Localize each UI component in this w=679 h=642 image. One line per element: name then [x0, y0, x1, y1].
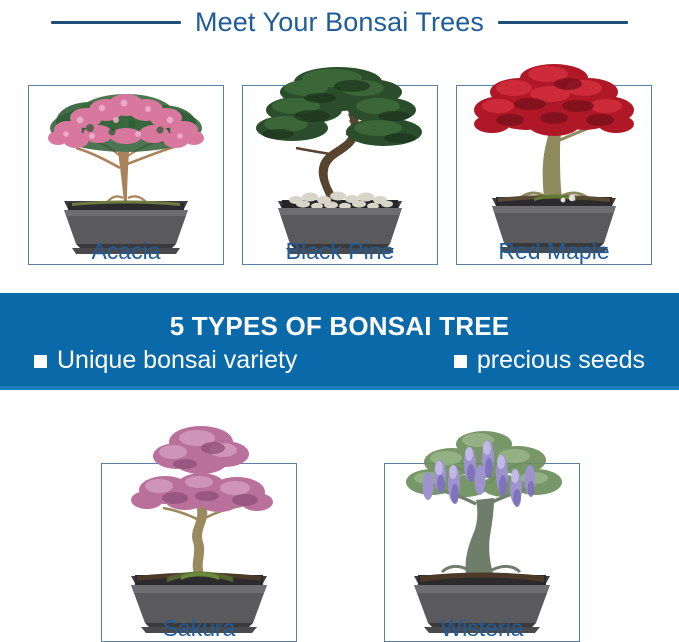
- page-header: Meet Your Bonsai Trees: [0, 0, 679, 44]
- bonsai-card-black-pine[interactable]: Black Pine: [242, 48, 438, 265]
- card-label: Sakura: [101, 617, 297, 640]
- bonsai-card-sakura[interactable]: Sakura: [101, 400, 297, 642]
- card-label: Acacia: [28, 240, 224, 263]
- card-label: Black Pine: [242, 240, 438, 263]
- card-label: Red Maple: [456, 240, 652, 263]
- square-bullet-icon: [34, 355, 47, 368]
- banner-underline: [0, 386, 679, 390]
- banner-bullet-item: Unique bonsai variety: [34, 346, 297, 375]
- card-label: Wisteria: [384, 617, 580, 640]
- header-rule-left: [51, 21, 181, 24]
- banner-bullet-label: Unique bonsai variety: [57, 346, 297, 375]
- bonsai-card-wisteria[interactable]: Wisteria: [384, 400, 580, 642]
- bonsai-card-acacia[interactable]: Acacia: [28, 48, 224, 265]
- banner-bullet-label: precious seeds: [477, 346, 645, 375]
- bonsai-card-red-maple[interactable]: Red Maple: [456, 48, 652, 265]
- banner-bullet-item: precious seeds: [454, 346, 645, 375]
- promo-banner: 5 TYPES OF BONSAI TREE Unique bonsai var…: [0, 293, 679, 386]
- banner-title: 5 TYPES OF BONSAI TREE: [170, 311, 510, 342]
- header-rule-right: [498, 21, 628, 24]
- bonsai-card-row-bottom: Sakura: [101, 400, 580, 642]
- bonsai-card-row-top: Acacia: [28, 48, 652, 265]
- banner-bullet-list: Unique bonsai variety precious seeds: [0, 346, 679, 375]
- page-title: Meet Your Bonsai Trees: [195, 7, 484, 38]
- square-bullet-icon: [454, 355, 467, 368]
